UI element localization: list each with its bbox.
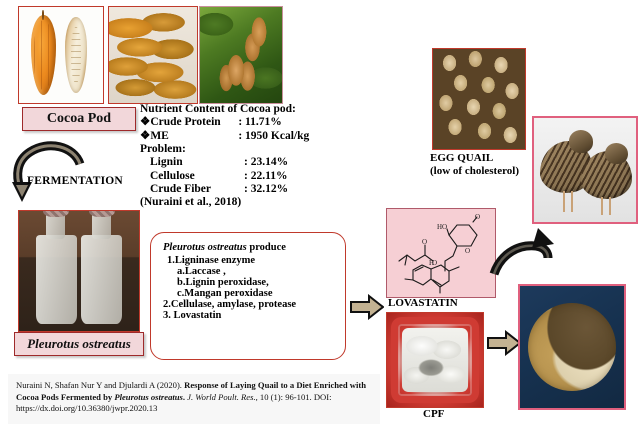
problem-item-crude-fiber: Crude Fiber: 32.12% <box>140 183 309 196</box>
block-arrow-to-feed-icon <box>487 330 521 356</box>
nutrient-item-value: : 11.71% <box>238 116 281 129</box>
photo-cpf-fermented-cocoa-pod <box>386 312 484 408</box>
problem-item-label: Lignin <box>140 156 244 169</box>
nutrient-item-value: : 1950 Kcal/kg <box>238 130 309 143</box>
problem-item-cellulose: Cellulose: 22.11% <box>140 170 309 183</box>
quail-leg <box>601 197 603 215</box>
problem-item-label: Crude Fiber <box>140 183 244 196</box>
problem-item-lignin: Lignin: 23.14% <box>140 156 309 169</box>
citation-volume-pages: , 10 (1): 96-101. DOI: <box>256 392 332 402</box>
curved-arrow-to-quail-icon <box>486 222 558 286</box>
curved-arrow-fermentation-icon <box>8 138 90 206</box>
citation-journal: J. World Poult. Res. <box>187 392 255 402</box>
quail-bird-left-head <box>569 130 593 153</box>
photo-quail-eggs <box>432 48 526 150</box>
culture-bottle-right <box>81 235 122 324</box>
label-cocoa-pod: Cocoa Pod <box>22 107 136 131</box>
label-egg-quail-line1: EGG QUAIL <box>430 152 519 165</box>
problem-item-value: : 32.12% <box>244 183 288 196</box>
nutrient-item-label: ME <box>150 130 238 143</box>
photo-pleurotus-culture-bottles <box>18 210 140 332</box>
nutrient-content-block: Nutrient Content of Cocoa pod: ❖Crude Pr… <box>140 103 309 210</box>
quail-leg <box>571 191 573 212</box>
lovastatin-skeletal-formula-icon: O HO O O O H <box>387 209 495 297</box>
photo-quail-feed-mix <box>518 284 626 410</box>
info-box-line-4: c.Mangan peroxidase <box>163 288 345 299</box>
info-box-line-2: a.Laccase , <box>163 266 345 277</box>
bullet-diamond-icon: ❖ <box>140 116 150 128</box>
pleurotus-enzyme-info-box: Pleurotus ostreatus produce 1.Ligninase … <box>150 232 346 360</box>
nutrient-item-label: Crude Protein <box>150 116 238 129</box>
info-box-heading: Pleurotus ostreatus produce <box>163 242 345 253</box>
feed-pile-shape <box>528 303 615 391</box>
problem-item-value: : 23.14% <box>244 156 288 169</box>
svg-text:O: O <box>465 247 470 255</box>
svg-text:O: O <box>475 213 480 221</box>
info-box-line-1: 1.Ligninase enzyme <box>163 255 345 266</box>
label-pleurotus-text: Pleurotus ostreatus <box>27 336 131 352</box>
label-pleurotus-ostreatus: Pleurotus ostreatus <box>14 332 144 356</box>
label-fermentation-text: FERMENTATION <box>27 175 123 187</box>
photo-cocoa-pod-illustration <box>18 6 104 104</box>
block-arrow-to-lovastatin-icon <box>350 294 384 320</box>
info-box-heading-italic: Pleurotus ostreatus <box>163 242 247 253</box>
mycelium-mass <box>402 328 467 392</box>
info-box-line-3: b.Lignin peroxidase, <box>163 277 345 288</box>
info-box-heading-rest: produce <box>247 242 286 253</box>
photo-lovastatin-structure: O HO O O O H <box>386 208 496 298</box>
poster-canvas: Cocoa Pod Nutrient Content of Cocoa pod:… <box>0 0 640 441</box>
svg-text:O: O <box>422 238 427 246</box>
label-cpf-text: CPF <box>423 408 444 420</box>
quail-bird-right-head <box>605 143 627 164</box>
info-box-line-6: 3. Lovastatin <box>163 310 345 321</box>
nutrient-item-crude-protein: ❖Crude Protein: 11.71% <box>140 116 309 129</box>
citation-title-italic: Pleurotus ostreatus <box>114 392 183 402</box>
citation-authors-year: Nuraini N, Shafan Nur Y and Djulardi A (… <box>16 380 184 390</box>
label-cocoa-pod-text: Cocoa Pod <box>47 111 111 127</box>
info-box-line-5: 2.Cellulase, amylase, protease <box>163 299 345 310</box>
cocoa-pod-half-shape <box>65 17 87 94</box>
quail-leg <box>609 197 611 215</box>
quail-leg <box>563 191 565 212</box>
label-lovastatin-text: LOVASTATIN <box>388 297 458 309</box>
bullet-diamond-icon: ❖ <box>140 130 150 142</box>
label-fermentation: FERMENTATION <box>27 175 123 187</box>
label-egg-quail: EGG QUAIL (low of cholesterol) <box>430 152 519 178</box>
problem-item-value: : 22.11% <box>244 170 287 183</box>
label-cpf: CPF <box>423 408 444 420</box>
photo-quail-birds <box>532 116 638 224</box>
svg-text:H: H <box>429 259 434 267</box>
nutrient-title: Nutrient Content of Cocoa pod: <box>140 103 309 116</box>
photo-harvested-cocoa-pods <box>108 6 198 104</box>
svg-text:HO: HO <box>437 223 447 231</box>
label-egg-quail-line2: (low of cholesterol) <box>430 165 519 178</box>
photo-cocoa-pods-on-tree <box>199 6 283 104</box>
cocoa-pod-whole-shape <box>31 15 56 96</box>
label-lovastatin: LOVASTATIN <box>388 297 458 309</box>
culture-bottle-left <box>36 235 77 324</box>
cocoa-pod-ridges <box>34 20 53 91</box>
problem-title: Problem: <box>140 143 309 156</box>
nutrient-item-me: ❖ME: 1950 Kcal/kg <box>140 130 309 143</box>
nutrient-source-citation: (Nuraini et al., 2018) <box>140 196 309 209</box>
citation-box: Nuraini N, Shafan Nur Y and Djulardi A (… <box>8 374 380 424</box>
citation-doi-link[interactable]: https://dx.doi.org/10.36380/jwpr.2020.13 <box>16 403 157 413</box>
problem-item-label: Cellulose <box>140 170 244 183</box>
